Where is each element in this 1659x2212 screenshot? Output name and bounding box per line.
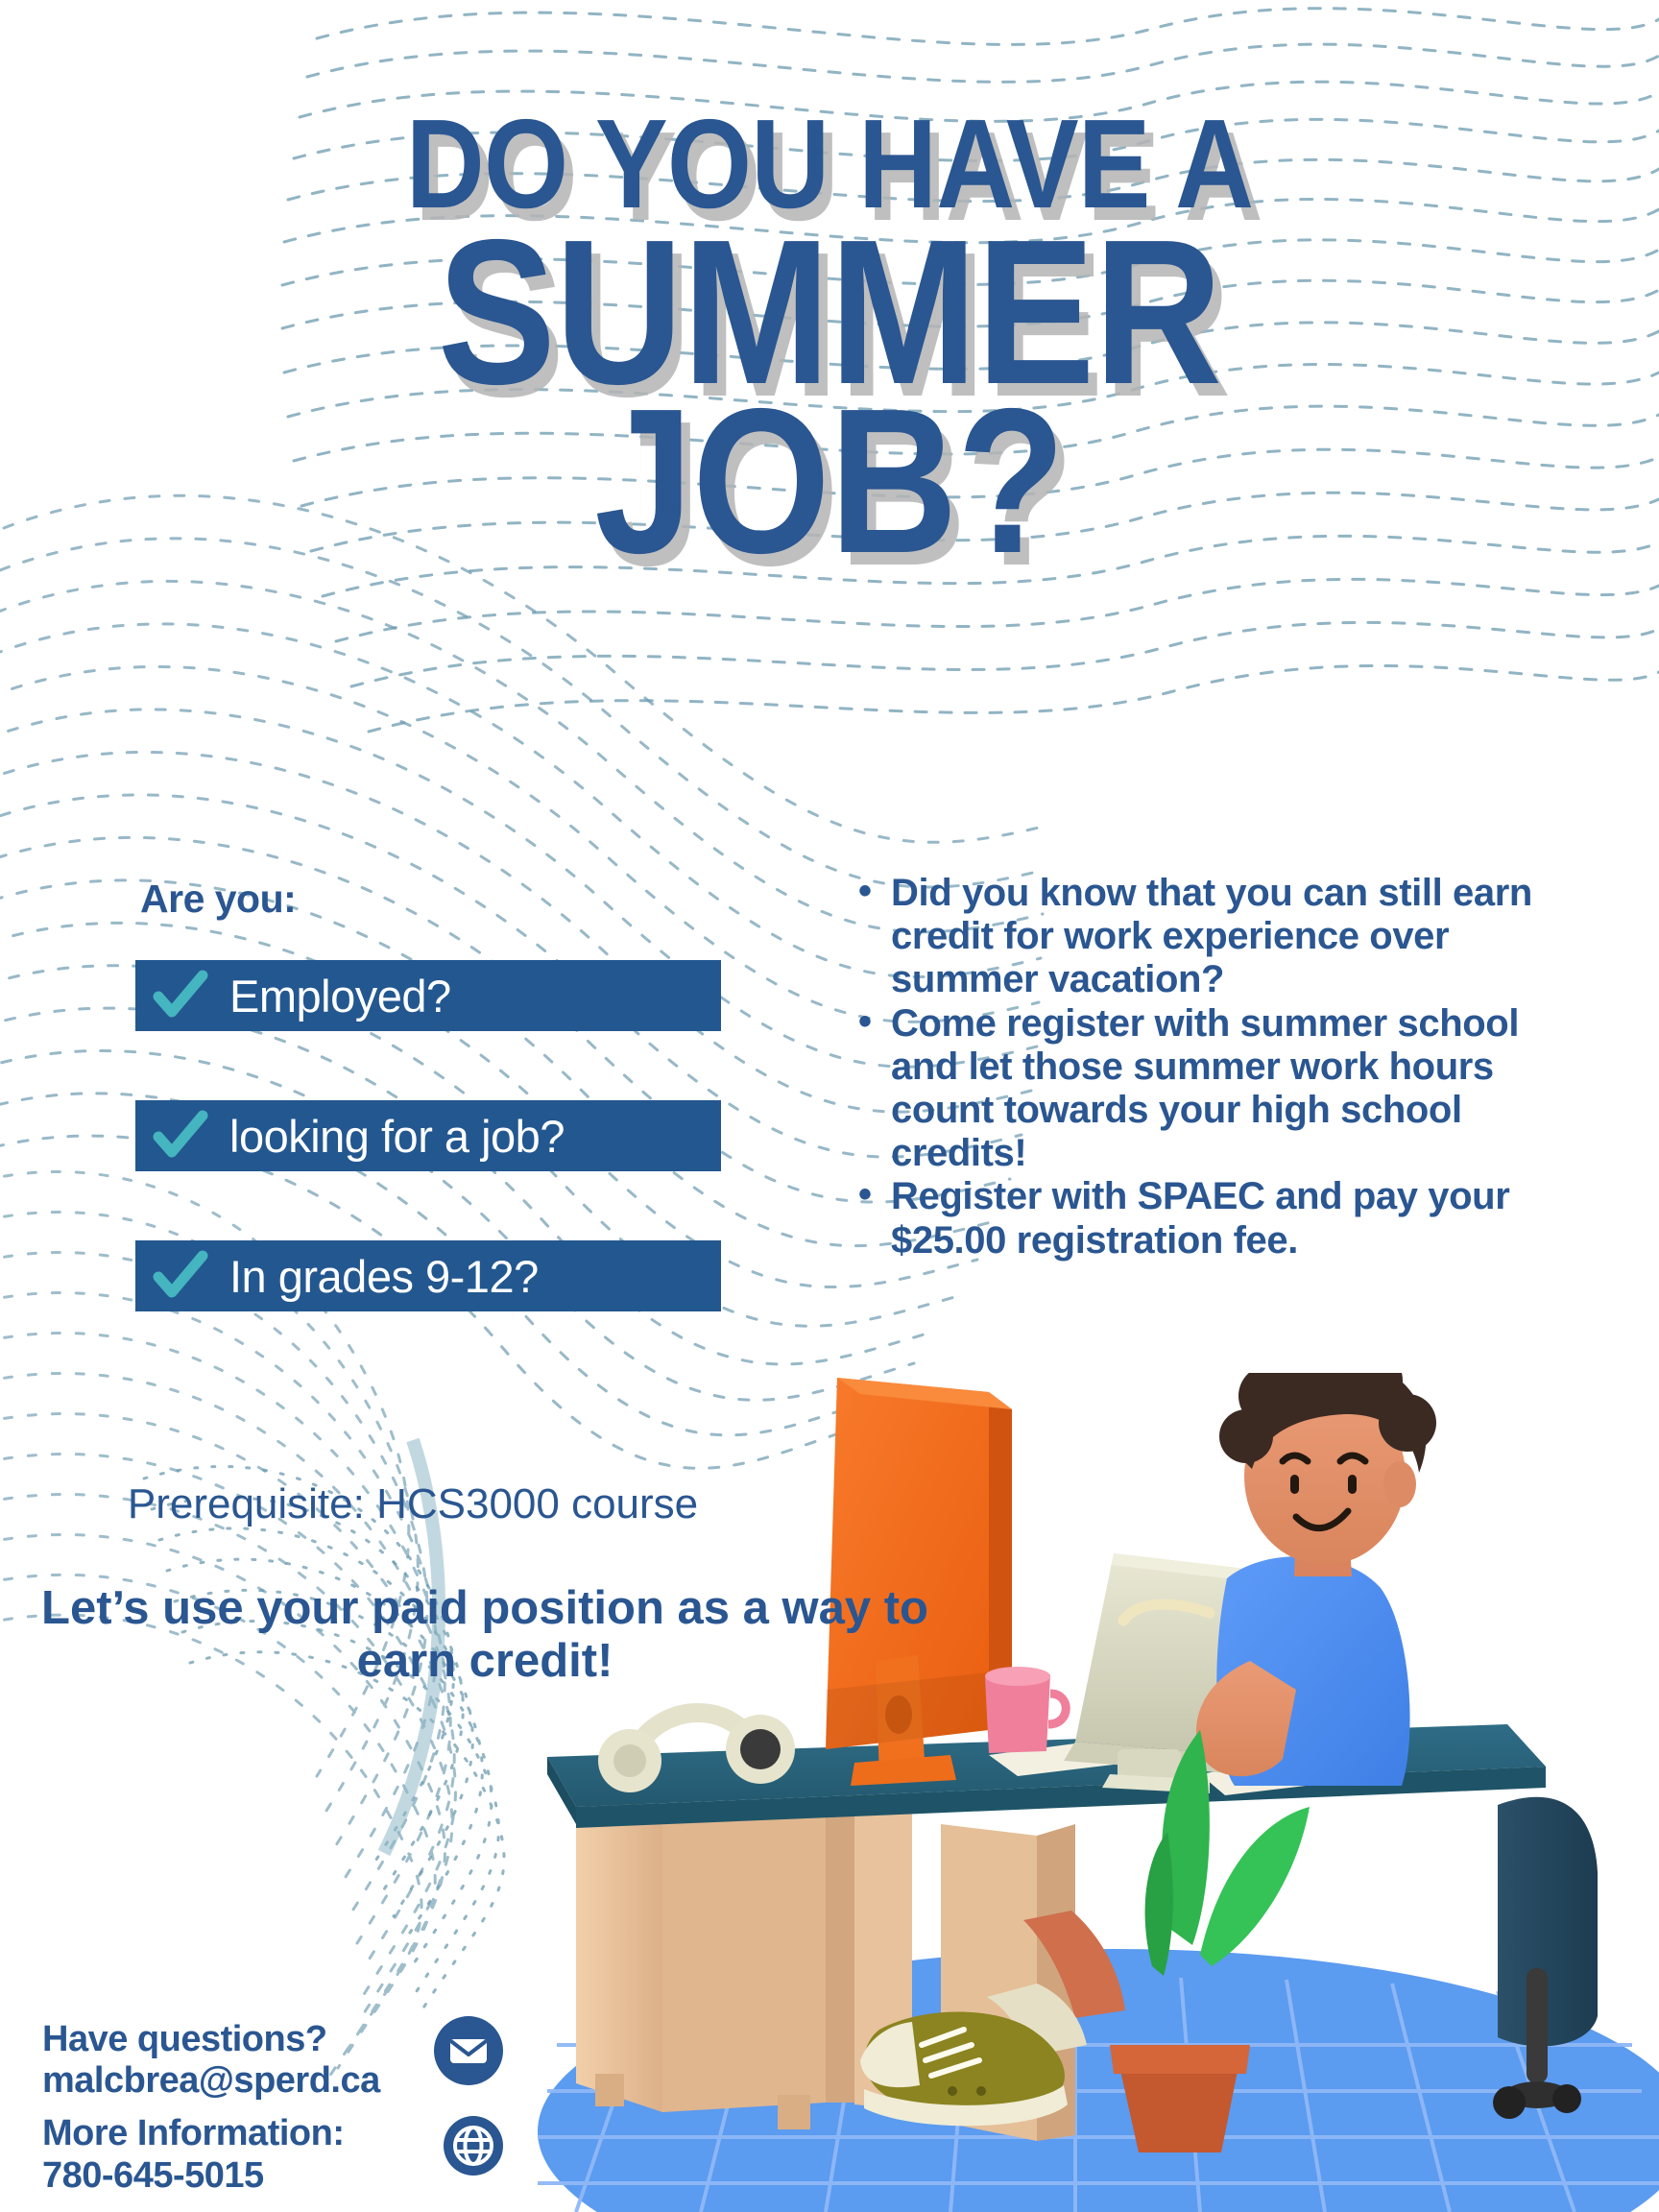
poster-canvas: DO YOU HAVE A SUMMER JOB? Are you: Emplo… [0,0,1659,2212]
checklist-item-label: Employed? [229,970,451,1022]
checklist-item-looking-for-a-job[interactable]: looking for a job? [135,1100,721,1171]
globe-icon[interactable] [444,2116,503,2176]
checklist-heading: Are you: [140,877,296,922]
check-icon [153,1248,208,1304]
prerequisite-text: Prerequisite: HCS3000 course [0,1480,826,1528]
headline-block: DO YOU HAVE A SUMMER JOB? [0,106,1659,577]
footer-contact-block: Have questions? malcbrea@sperd.ca More I… [42,2019,380,2197]
checklist: Employed? looking for a job? In grades 9… [135,960,721,1311]
more-info-label: More Information: [42,2113,380,2154]
headline-line-3: JOB? [116,385,1543,577]
questions-label: Have questions? [42,2019,380,2060]
bullet-item: Come register with summer school and let… [891,1002,1563,1176]
check-icon [153,968,208,1023]
checklist-item-employed[interactable]: Employed? [135,960,721,1031]
email-address[interactable]: malcbrea@sperd.ca [42,2060,380,2102]
check-icon [153,1108,208,1164]
benefits-bullet-list: Did you know that you can still earn cre… [851,872,1563,1262]
checklist-item-label: In grades 9-12? [229,1250,539,1303]
checklist-item-label: looking for a job? [229,1110,565,1163]
checklist-item-in-grades-9-12[interactable]: In grades 9-12? [135,1240,721,1311]
bullet-item: Did you know that you can still earn cre… [891,872,1563,1002]
bullet-item: Register with SPAEC and pay your $25.00 … [891,1175,1563,1262]
phone-number[interactable]: 780-645-5015 [42,2155,380,2197]
tagline-text: Let’s use your paid position as a way to… [0,1582,970,1688]
mail-icon[interactable] [434,2016,503,2085]
